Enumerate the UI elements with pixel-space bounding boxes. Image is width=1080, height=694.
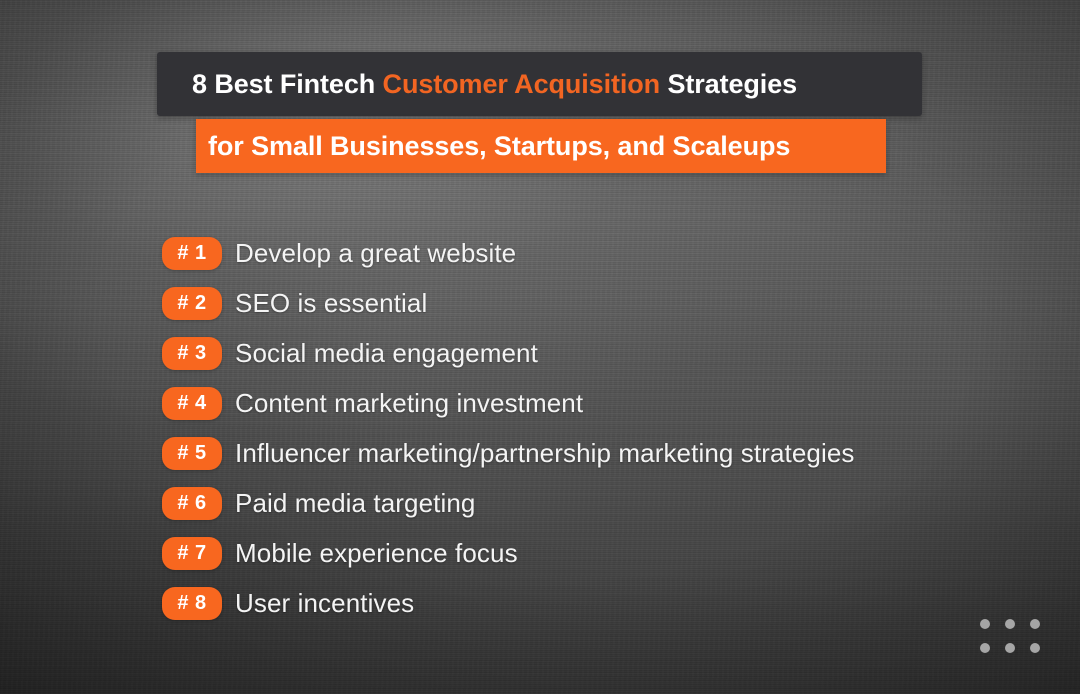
list-item: # 2 SEO is essential [162, 278, 1042, 328]
decorative-dot [1030, 619, 1040, 629]
decorative-dot [1030, 643, 1040, 653]
headline-primary-part1: 8 Best Fintech [192, 69, 383, 99]
strategy-number-badge: # 3 [162, 337, 222, 370]
strategy-list: # 1 Develop a great website # 2 SEO is e… [162, 228, 1042, 628]
decorative-dot [980, 643, 990, 653]
headline-primary: 8 Best Fintech Customer Acquisition Stra… [192, 71, 797, 98]
list-item: # 7 Mobile experience focus [162, 528, 1042, 578]
headline-secondary: for Small Businesses, Startups, and Scal… [208, 133, 790, 160]
list-item: # 4 Content marketing investment [162, 378, 1042, 428]
list-item: # 3 Social media engagement [162, 328, 1042, 378]
infographic-poster: 8 Best Fintech Customer Acquisition Stra… [0, 0, 1080, 694]
strategy-label: Social media engagement [235, 340, 538, 366]
strategy-number-badge: # 1 [162, 237, 222, 270]
strategy-label: SEO is essential [235, 290, 427, 316]
decorative-dot [980, 619, 990, 629]
strategy-number-badge: # 7 [162, 537, 222, 570]
strategy-number-badge: # 5 [162, 437, 222, 470]
strategy-label: Paid media targeting [235, 490, 475, 516]
decorative-dots-grid [980, 619, 1040, 653]
headline-bar-primary: 8 Best Fintech Customer Acquisition Stra… [157, 52, 922, 116]
strategy-label: Develop a great website [235, 240, 516, 266]
strategy-number-badge: # 2 [162, 287, 222, 320]
list-item: # 8 User incentives [162, 578, 1042, 628]
headline-primary-part2: Strategies [660, 69, 797, 99]
strategy-label: Mobile experience focus [235, 540, 518, 566]
list-item: # 5 Influencer marketing/partnership mar… [162, 428, 1042, 478]
strategy-number-badge: # 6 [162, 487, 222, 520]
strategy-number-badge: # 4 [162, 387, 222, 420]
decorative-dot [1005, 643, 1015, 653]
strategy-number-badge: # 8 [162, 587, 222, 620]
strategy-label: Influencer marketing/partnership marketi… [235, 440, 855, 466]
list-item: # 1 Develop a great website [162, 228, 1042, 278]
decorative-dot [1005, 619, 1015, 629]
headline-primary-accent: Customer Acquisition [383, 69, 661, 99]
list-item: # 6 Paid media targeting [162, 478, 1042, 528]
strategy-label: User incentives [235, 590, 414, 616]
strategy-label: Content marketing investment [235, 390, 583, 416]
headline-bar-secondary: for Small Businesses, Startups, and Scal… [196, 119, 886, 173]
